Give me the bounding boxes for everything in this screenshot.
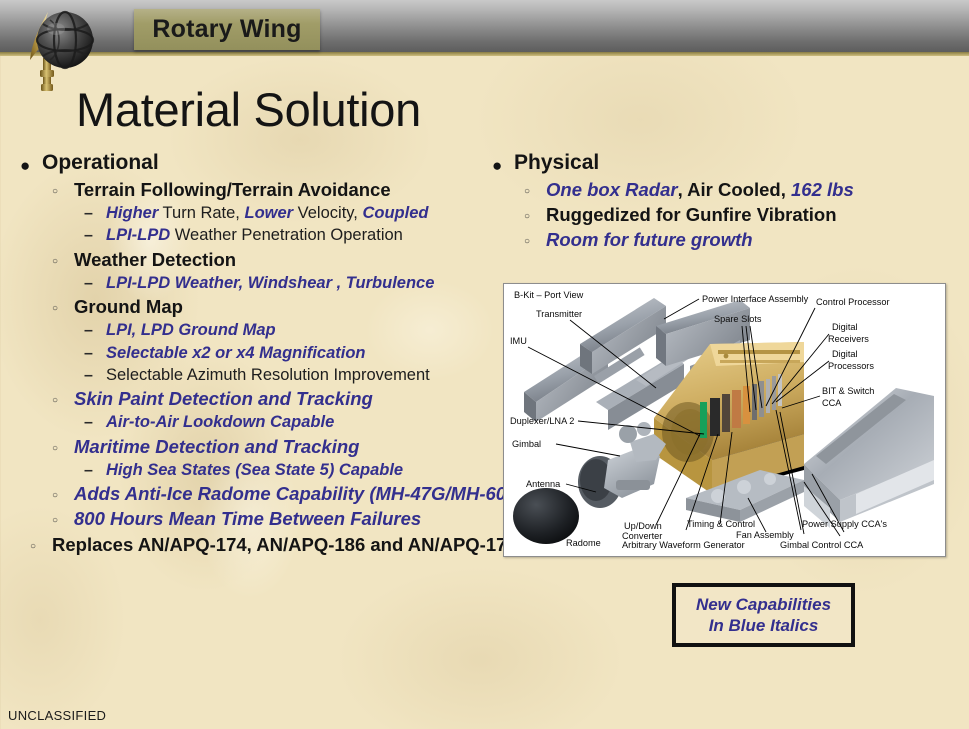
bullet-item-label: LPI, LPD Ground Map (106, 320, 276, 341)
bullet-item-label: Higher Turn Rate, Lower Velocity, Couple… (106, 203, 428, 224)
physical-column: ● Physical ○One box Radar, Air Cooled, 1… (492, 150, 952, 253)
bullet-circle-icon: ○ (52, 507, 74, 526)
diagram-label: Transmitter (536, 309, 582, 319)
bullet-item: –LPI-LPD Weather, Windshear , Turbulence (84, 273, 490, 294)
diagram-label: Antenna (526, 479, 561, 489)
bullet-text: Weather Penetration Operation (170, 226, 403, 244)
bullet-circle-icon: ○ (52, 482, 74, 501)
bullet-item-label: Air-to-Air Lookdown Capable (106, 412, 334, 433)
bullet-item: –LPI-LPD Weather Penetration Operation (84, 225, 490, 246)
new-capability-text: Selectable x2 or x4 Magnification (106, 344, 366, 362)
diagram-label: Gimbal Control CCA (780, 540, 864, 550)
bullet-item: ○Ground Map (52, 295, 490, 319)
physical-items: ○One box Radar, Air Cooled, 162 lbs○Rugg… (492, 178, 952, 252)
bullet-dot-icon: ● (20, 150, 42, 174)
bullet-dash-icon: – (84, 225, 106, 244)
bullet-text: Velocity, (293, 204, 362, 222)
bullet-item: ○Replaces AN/APQ-174, AN/APQ-186 and AN/… (30, 533, 490, 557)
operational-column: ● Operational ○Terrain Following/Terrain… (20, 150, 490, 558)
diagram-label: Arbitrary Waveform Generator (622, 540, 745, 550)
bullet-item: ○Room for future growth (524, 228, 952, 252)
bullet-dash-icon: – (84, 320, 106, 339)
bullet-dash-icon: – (84, 273, 106, 292)
legend-line-2: In Blue Italics (709, 615, 819, 636)
new-capability-text: LPI-LPD (106, 226, 170, 244)
bullet-text: Turn Rate, (158, 204, 244, 222)
bullet-item: ○800 Hours Mean Time Between Failures (52, 507, 490, 531)
bullet-item-label: Adds Anti-Ice Radome Capability (MH-47G/… (74, 482, 528, 506)
new-capability-text: Air-to-Air Lookdown Capable (106, 413, 334, 431)
new-capability-text: Higher (106, 204, 158, 222)
bullet-item-label: LPI-LPD Weather Penetration Operation (106, 225, 403, 246)
bullet-item: ○Skin Paint Detection and Tracking (52, 387, 490, 411)
page-title: Material Solution (76, 82, 421, 137)
rotary-wing-label: Rotary Wing (152, 15, 301, 44)
bullet-item: ○Adds Anti-Ice Radome Capability (MH-47G… (52, 482, 490, 506)
bullet-dash-icon: – (84, 365, 106, 384)
bullet-circle-icon: ○ (52, 178, 74, 197)
diagram-label: Digital (832, 349, 858, 359)
bullet-circle-icon: ○ (524, 203, 546, 222)
bullet-item-label: Ruggedized for Gunfire Vibration (546, 203, 837, 227)
diagram-label: Power Supply CCA's (802, 519, 887, 529)
new-capability-text: Skin Paint Detection and Tracking (74, 388, 373, 409)
physical-heading: ● Physical (492, 150, 952, 176)
operational-items: ○Terrain Following/Terrain Avoidance–Hig… (20, 178, 490, 558)
diagram-canvas: B-Kit – Port ViewTransmitterIMUDuplexer/… (504, 284, 943, 554)
bullet-item-label: High Sea States (Sea State 5) Capable (106, 460, 403, 481)
bullet-text: Ruggedized for Gunfire Vibration (546, 204, 837, 225)
new-capability-text: Adds Anti-Ice Radome Capability (MH-47G/… (74, 483, 528, 504)
physical-heading-label: Physical (514, 150, 599, 176)
diagram-label: Power Interface Assembly (702, 294, 809, 304)
diagram-label: Up/Down (624, 521, 662, 531)
bullet-item-label: Selectable Azimuth Resolution Improvemen… (106, 365, 430, 386)
diagram-label: Spare Slots (714, 314, 762, 324)
diagram-label: CCA (822, 398, 842, 408)
new-capability-text: High Sea States (Sea State 5) Capable (106, 461, 403, 479)
bullet-item: ○One box Radar, Air Cooled, 162 lbs (524, 178, 952, 202)
diagram-label: Gimbal (512, 439, 541, 449)
diagram-label: Fan Assembly (736, 530, 794, 540)
bullet-dash-icon: – (84, 412, 106, 431)
new-capability-text: Room for future growth (546, 229, 753, 250)
bullet-item: –Higher Turn Rate, Lower Velocity, Coupl… (84, 203, 490, 224)
globe-and-torch-emblem (10, 2, 120, 94)
new-capability-text: Lower (244, 204, 293, 222)
bullet-circle-icon: ○ (52, 435, 74, 454)
bullet-item: ○Maritime Detection and Tracking (52, 435, 490, 459)
new-capability-text: LPI-LPD Weather, Windshear , Turbulence (106, 274, 434, 292)
slide: Rotary Wing (0, 0, 969, 729)
new-capability-text: 162 lbs (791, 179, 854, 200)
bullet-circle-icon: ○ (524, 228, 546, 247)
bullet-item-label: Skin Paint Detection and Tracking (74, 387, 373, 411)
bullet-item: –Selectable x2 or x4 Magnification (84, 343, 490, 364)
bullet-circle-icon: ○ (524, 178, 546, 197)
rotary-wing-title-band: Rotary Wing (134, 9, 320, 50)
operational-heading: ● Operational (20, 150, 490, 176)
bullet-circle-icon: ○ (52, 295, 74, 314)
diagram-label: B-Kit – Port View (514, 290, 584, 300)
new-capability-text: Maritime Detection and Tracking (74, 436, 359, 457)
diagram-label: Digital (832, 322, 858, 332)
operational-heading-label: Operational (42, 150, 159, 176)
new-capability-text: Coupled (362, 204, 428, 222)
bullet-circle-icon: ○ (30, 533, 52, 552)
diagram-label: Timing & Control (687, 519, 755, 529)
bullet-item: –Selectable Azimuth Resolution Improveme… (84, 365, 490, 386)
new-capabilities-legend: New Capabilities In Blue Italics (672, 583, 855, 647)
bullet-dash-icon: – (84, 343, 106, 362)
diagram-label: IMU (510, 336, 527, 346)
new-capability-text: 800 Hours Mean Time Between Failures (74, 508, 421, 529)
bullet-dash-icon: – (84, 203, 106, 222)
bullet-text: Terrain Following/Terrain Avoidance (74, 179, 391, 200)
classification-footer: UNCLASSIFIED (8, 708, 106, 723)
bullet-item-label: Replaces AN/APQ-174, AN/APQ-186 and AN/A… (52, 533, 559, 557)
bullet-text: Weather Detection (74, 249, 236, 270)
bullet-item: ○Ruggedized for Gunfire Vibration (524, 203, 952, 227)
new-capability-text: One box Radar (546, 179, 678, 200)
top-banner-underline (0, 52, 969, 56)
bullet-text: , Air Cooled, (678, 179, 791, 200)
legend-line-1: New Capabilities (696, 594, 831, 615)
diagram-label: Duplexer/LNA 2 (510, 416, 574, 426)
bullet-item: ○Weather Detection (52, 248, 490, 272)
diagram-label: BIT & Switch (822, 386, 874, 396)
bullet-text: Ground Map (74, 296, 183, 317)
bullet-item-label: Room for future growth (546, 228, 753, 252)
bullet-item: –High Sea States (Sea State 5) Capable (84, 460, 490, 481)
bullet-circle-icon: ○ (52, 387, 74, 406)
bullet-item-label: Weather Detection (74, 248, 236, 272)
bullet-item: –LPI, LPD Ground Map (84, 320, 490, 341)
bullet-item-label: Terrain Following/Terrain Avoidance (74, 178, 391, 202)
diagram-label: Receivers (828, 334, 869, 344)
bullet-item-label: Selectable x2 or x4 Magnification (106, 343, 366, 364)
bullet-item-label: Maritime Detection and Tracking (74, 435, 359, 459)
bullet-circle-icon: ○ (52, 248, 74, 267)
diagram-label: Processors (828, 361, 874, 371)
diagram-label: Radome (566, 538, 601, 548)
bullet-dot-icon: ● (492, 150, 514, 174)
bullet-dash-icon: – (84, 460, 106, 479)
new-capability-text: LPI, LPD Ground Map (106, 321, 276, 339)
bullet-item-label: One box Radar, Air Cooled, 162 lbs (546, 178, 854, 202)
bullet-text: Selectable Azimuth Resolution Improvemen… (106, 366, 430, 384)
b-kit-exploded-view-diagram: B-Kit – Port ViewTransmitterIMUDuplexer/… (503, 283, 946, 557)
bullet-item-label: Ground Map (74, 295, 183, 319)
bullet-item: –Air-to-Air Lookdown Capable (84, 412, 490, 433)
diagram-label: Control Processor (816, 297, 890, 307)
bullet-text: Replaces AN/APQ-174, AN/APQ-186 and AN/A… (52, 534, 559, 555)
bullet-item-label: 800 Hours Mean Time Between Failures (74, 507, 421, 531)
bullet-item-label: LPI-LPD Weather, Windshear , Turbulence (106, 273, 434, 294)
bullet-item: ○Terrain Following/Terrain Avoidance (52, 178, 490, 202)
